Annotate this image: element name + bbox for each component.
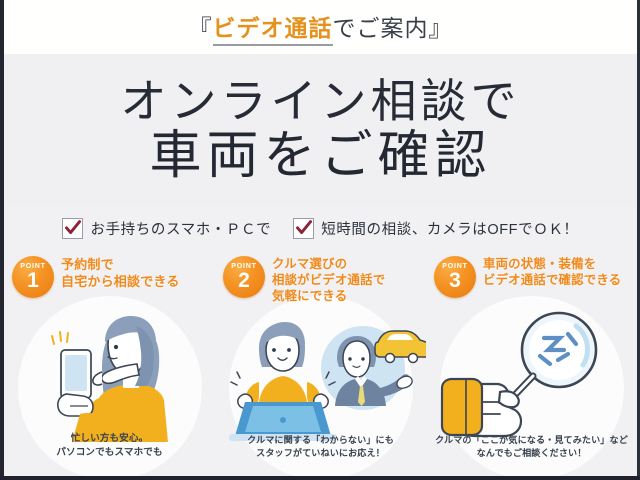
point-1-title-line-2: 自宅から相談できる	[61, 274, 180, 291]
bracket-open: 『	[189, 9, 213, 43]
point-1-caption: 忙しい方も安心。 パソコンでもスマホでも	[4, 432, 215, 460]
header-band: 『 ビデオ通話 でご案内 』	[4, 0, 637, 54]
banner-canvas: 『 ビデオ通話 でご案内 』 オンライン相談で 車両をご確認 お手持ちのスマホ・…	[4, 0, 637, 476]
checklist-item-2: 短時間の相談、カメラはOFFでＯＫ！	[293, 218, 578, 239]
point-1-caption-line-1: 忙しい方も安心。	[4, 432, 215, 446]
point-3-caption-line-2: なんでもご相談ください！	[426, 447, 637, 460]
point-2-title-line-3: 気軽にできる	[272, 289, 385, 305]
woman-holding-smartphone-illustration	[4, 302, 215, 442]
point-2-title-line-2: 相談がビデオ通話で	[272, 273, 385, 289]
point-2-caption-line-2: スタッフがていねいにお応え！	[215, 447, 426, 460]
point-3-title-line-2: ビデオ通話で確認できる	[483, 273, 621, 289]
point-badge-3: POINT 3	[434, 256, 476, 298]
point-2-caption-line-1: クルマに関する「わからない」にも	[215, 434, 426, 447]
checkmark-icon	[293, 218, 314, 239]
point-1-title-line-1: 予約制で	[61, 257, 180, 274]
woman-at-laptop-with-staff-video-call-illustration	[215, 302, 426, 442]
point-3-title: 車両の状態・装備を ビデオ通話で確認できる	[483, 256, 621, 289]
point-1-caption-line-2: パソコンでもスマホでも	[4, 446, 215, 460]
letterbox-left-edge	[0, 0, 4, 480]
point-3-caption: クルマの「ここが気になる・見てみたい」など なんでもご相談ください！	[426, 434, 637, 460]
points-row: POINT 1 予約制で 自宅から相談できる	[4, 250, 637, 476]
header-tagline: 『 ビデオ通話 でご案内 』	[189, 9, 453, 46]
header-emphasis-text: ビデオ通話	[213, 9, 333, 46]
point-2-title-line-1: クルマ選びの	[272, 257, 385, 273]
header-rest-text: でご案内	[333, 9, 429, 43]
checklist-item-1: お手持ちのスマホ・ＰＣで	[62, 218, 271, 239]
bracket-close: 』	[429, 9, 453, 43]
hero-section: オンライン相談で 車両をご確認	[4, 54, 637, 206]
point-2-heading: POINT 2 クルマ選びの 相談がビデオ通話で 気軽にできる	[223, 256, 385, 305]
point-1-title: 予約制で 自宅から相談できる	[61, 256, 180, 290]
point-2-caption: クルマに関する「わからない」にも スタッフがていねいにお応え！	[215, 434, 426, 460]
letterbox-bottom-edge	[0, 476, 640, 480]
point-badge-1: POINT 1	[12, 256, 54, 298]
hero-title-line-2: 車両をご確認	[149, 129, 491, 184]
banner-image: 『 ビデオ通話 でご案内 』 オンライン相談で 車両をご確認 お手持ちのスマホ・…	[0, 0, 640, 480]
checklist-label-2: 短時間の相談、カメラはOFFでＯＫ！	[321, 218, 578, 239]
checkmark-icon	[62, 218, 83, 239]
point-panel-1: POINT 1 予約制で 自宅から相談できる	[4, 250, 215, 476]
hand-holding-magnifying-glass-illustration	[426, 302, 637, 442]
checklist-label-1: お手持ちのスマホ・ＰＣで	[90, 218, 271, 239]
point-3-title-line-1: 車両の状態・装備を	[483, 257, 621, 273]
point-badge-number: 1	[12, 270, 54, 291]
hero-title-line-1: オンライン相談で	[121, 76, 521, 128]
point-3-caption-line-1: クルマの「ここが気になる・見てみたい」など	[426, 434, 637, 447]
checklist-row: お手持ちのスマホ・ＰＣで 短時間の相談、カメラはOFFでＯＫ！	[4, 206, 637, 250]
point-badge-number: 2	[223, 270, 265, 291]
point-badge-number: 3	[434, 270, 476, 291]
point-badge-2: POINT 2	[223, 256, 265, 298]
point-1-heading: POINT 1 予約制で 自宅から相談できる	[12, 256, 180, 298]
point-3-heading: POINT 3 車両の状態・装備を ビデオ通話で確認できる	[434, 256, 621, 298]
point-2-title: クルマ選びの 相談がビデオ通話で 気軽にできる	[272, 256, 385, 305]
point-panel-2: POINT 2 クルマ選びの 相談がビデオ通話で 気軽にできる	[215, 250, 426, 476]
point-panel-3: POINT 3 車両の状態・装備を ビデオ通話で確認できる	[426, 250, 637, 476]
